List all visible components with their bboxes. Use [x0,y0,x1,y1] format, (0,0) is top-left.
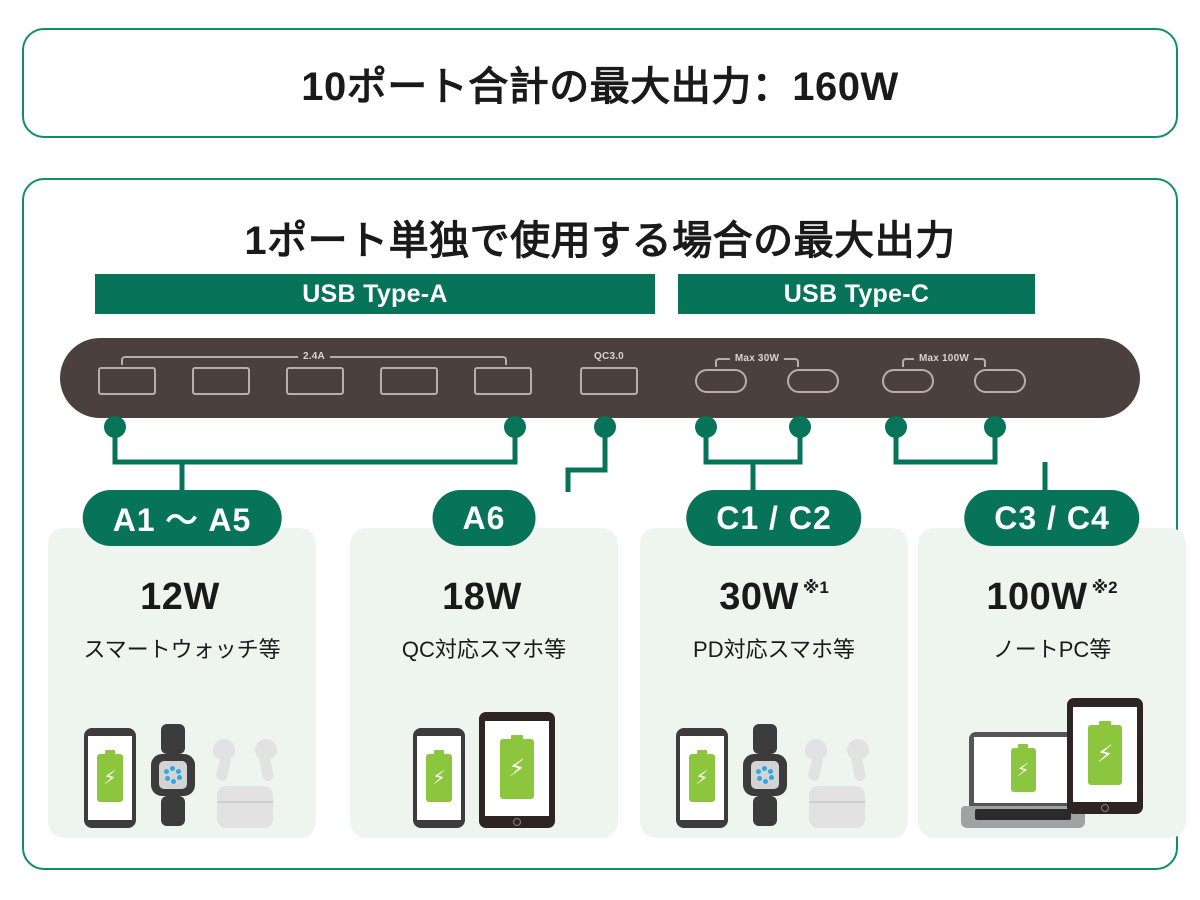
port-card-c3-c4: C3 / C4 100W ※2 ノートPC等 ⚡ ⚡ [918,528,1186,838]
watt-value: 30W [719,576,799,619]
usb-c-port-3 [882,369,934,393]
device-illustrations: ⚡ ⚡ [918,678,1186,828]
usb-a-port-5 [474,367,532,395]
device-subtitle: PD対応スマホ等 [640,632,908,664]
device-subtitle: スマートウォッチ等 [48,632,316,664]
port-card-a6: A6 18W QC対応スマホ等 ⚡ ⚡ [350,528,618,838]
total-output-banner: 10ポート合計の最大出力：160W [22,28,1178,138]
usb-c-port-1 [695,369,747,393]
port-card-c1-c2: C1 / C2 30W ※1 PD対応スマホ等 ⚡ [640,528,908,838]
usb-a-port-2 [192,367,250,395]
port-card-a1-a5: A1 〜 A5 12W スマートウォッチ等 ⚡ [48,528,316,838]
smartwatch-icon [742,724,788,828]
device-illustrations: ⚡ [48,678,316,828]
usb-c-port-4 [974,369,1026,393]
usb-type-c-header: USB Type-C [678,274,1035,314]
watt-row: 12W [48,576,316,619]
earbuds-icon [210,724,280,828]
phone-icon: ⚡ [676,728,728,828]
earbuds-icon [802,724,872,828]
watt-value: 100W [986,576,1087,619]
usb-type-c-label: USB Type-C [784,280,930,309]
port-card-pill: C1 / C2 [686,490,861,546]
port-card-pill: C3 / C4 [964,490,1139,546]
hub-label-max-100w: Max 100W [914,353,974,364]
smartwatch-icon [150,724,196,828]
port-card-pill: A1 〜 A5 [83,490,282,546]
battery-icon: ⚡ [426,754,452,802]
battery-icon: ⚡ [500,739,534,799]
battery-icon: ⚡ [1088,725,1122,785]
panel-title: 1ポート単独で使用する場合の最大出力 [22,208,1178,266]
tablet-icon: ⚡ [479,712,555,828]
usb-a-port-4 [380,367,438,395]
hub-label-2-4a: 2.4A [298,351,330,362]
device-illustrations: ⚡ ⚡ [350,678,618,828]
device-subtitle: ノートPC等 [918,632,1186,664]
infographic-root: 10ポート合計の最大出力：160W 1ポート単独で使用する場合の最大出力 USB… [0,0,1200,900]
phone-icon: ⚡ [84,728,136,828]
watt-footnote: ※1 [803,578,829,598]
watt-row: 18W [350,576,618,619]
watt-row: 100W ※2 [918,576,1186,619]
battery-icon: ⚡ [1011,748,1036,792]
watt-footnote: ※2 [1092,578,1118,598]
watt-value: 18W [442,576,522,619]
hub-label-max-30w: Max 30W [730,353,784,364]
usb-hub-illustration: 2.4A QC3.0 Max 30W Max 100W [60,338,1140,418]
device-illustrations: ⚡ [640,678,908,828]
hub-label-qc30: QC3.0 [594,351,624,362]
device-subtitle: QC対応スマホ等 [350,632,618,664]
tablet-icon: ⚡ [1067,698,1143,814]
usb-a-port-6-qc [580,367,638,395]
usb-type-a-header: USB Type-A [95,274,655,314]
battery-icon: ⚡ [97,754,123,802]
usb-a-port-3 [286,367,344,395]
usb-a-port-1 [98,367,156,395]
usb-type-a-label: USB Type-A [302,280,448,309]
battery-icon: ⚡ [689,754,715,802]
total-output-text: 10ポート合計の最大出力：160W [301,54,898,112]
usb-c-port-2 [787,369,839,393]
phone-icon: ⚡ [413,728,465,828]
watt-row: 30W ※1 [640,576,908,619]
port-card-pill: A6 [433,490,536,546]
watt-value: 12W [140,576,220,619]
